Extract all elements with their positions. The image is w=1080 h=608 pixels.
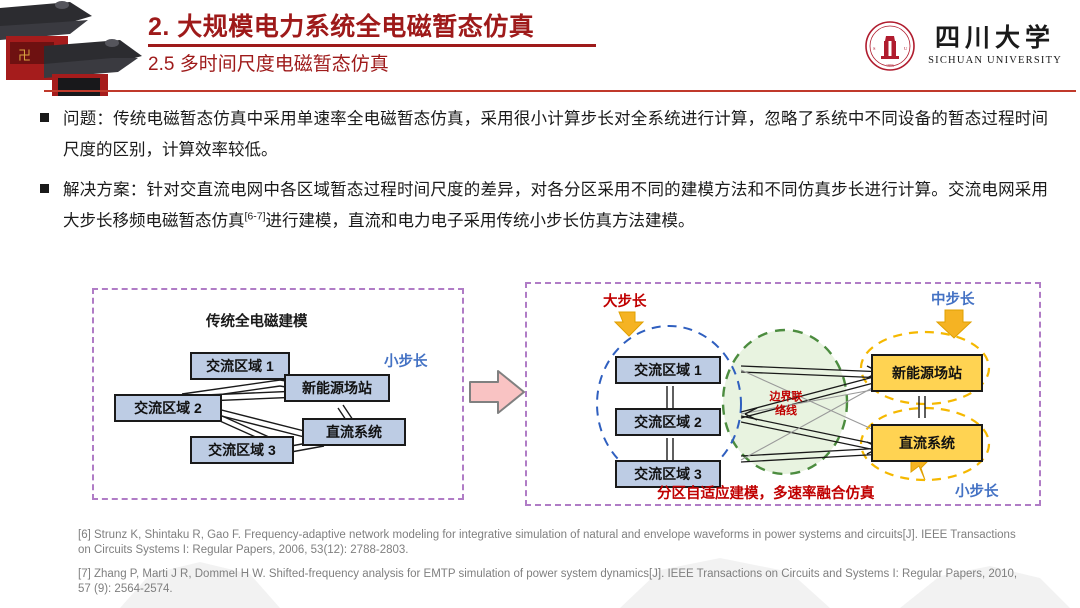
node-ac-zone-2[interactable]: 交流区域 2 [615, 408, 721, 436]
title-block: 2. 大规模电力系统全电磁暂态仿真 2.5 多时间尺度电磁暂态仿真 [148, 12, 808, 78]
sichuan-university-seal-icon: 1896 S U [864, 20, 916, 72]
left-panel-title: 传统全电磁建模 [206, 310, 308, 331]
left-diagram-panel: 传统全电磁建模 小步长 交流区域 1 交流区域 2 交流区域 3 新能源场站 直… [92, 288, 464, 500]
tie-line-label-line2: 络线 [755, 404, 817, 418]
node-dc-system[interactable]: 直流系统 [302, 418, 406, 446]
right-diagram-panel: 大步长 中步长 小步长 [525, 282, 1041, 506]
node-ac-zone-2[interactable]: 交流区域 2 [114, 394, 222, 422]
process-arrow-icon [468, 368, 528, 416]
bullet-solution-text: 解决方案：针对交直流电网中各区域暂态过程时间尺度的差异，对各分区采用不同的建模方… [63, 175, 1048, 237]
node-ac-zone-3[interactable]: 交流区域 3 [190, 436, 294, 464]
step-label-large: 大步长 [603, 290, 647, 311]
bullet-square-icon [40, 113, 49, 122]
page-title: 2. 大规模电力系统全电磁暂态仿真 [148, 12, 808, 42]
bullet-square-icon [40, 184, 49, 193]
title-underline [148, 44, 596, 47]
step-label-small: 小步长 [955, 480, 999, 501]
logo-english-name: SICHUAN UNIVERSITY [928, 54, 1062, 67]
node-dc-system[interactable]: 直流系统 [871, 424, 983, 462]
page-subtitle: 2.5 多时间尺度电磁暂态仿真 [148, 52, 808, 78]
svg-text:U: U [904, 46, 908, 51]
right-panel-caption: 分区自适应建模，多速率融合仿真 [657, 482, 875, 503]
svg-text:卍: 卍 [18, 48, 31, 63]
tie-line-label-line1: 边界联 [755, 390, 817, 404]
pagoda-decoration-image: 卍 [0, 0, 148, 96]
bullet-problem-text: 问题：传统电磁暂态仿真中采用单速率全电磁暂态仿真，采用很小计算步长对全系统进行计… [63, 104, 1048, 166]
tie-line-label: 边界联 络线 [755, 390, 817, 418]
header-divider [44, 90, 1076, 92]
node-renewable-station[interactable]: 新能源场站 [284, 374, 390, 402]
references-list: [6] Strunz K, Shintaku R, Gao F. Frequen… [78, 528, 1028, 606]
diagram-area: 传统全电磁建模 小步长 交流区域 1 交流区域 2 交流区域 3 新能源场站 直… [0, 282, 1080, 514]
solution-text-part-b: 进行建模，直流和电力电子采用传统小步长仿真方法建模。 [266, 212, 695, 230]
bullet-list: 问题：传统电磁暂态仿真中采用单速率全电磁暂态仿真，采用很小计算步长对全系统进行计… [40, 104, 1048, 246]
node-renewable-station[interactable]: 新能源场站 [871, 354, 983, 392]
reference-item-6: [6] Strunz K, Shintaku R, Gao F. Frequen… [78, 528, 1028, 558]
logo-chinese-name: 四川大学 [935, 25, 1055, 53]
svg-text:1896: 1896 [886, 63, 894, 68]
svg-text:S: S [873, 46, 876, 51]
reference-superscript: [6-7] [245, 211, 266, 223]
left-panel-step-label: 小步长 [384, 350, 428, 371]
reference-item-7: [7] Zhang P, Marti J R, Dommel H W. Shif… [78, 567, 1028, 597]
bullet-item-solution: 解决方案：针对交直流电网中各区域暂态过程时间尺度的差异，对各分区采用不同的建模方… [40, 175, 1048, 237]
node-ac-zone-1[interactable]: 交流区域 1 [615, 356, 721, 384]
slide-header: 卍 2. 大规模电力系统全电磁暂态仿真 2.5 多时间尺度电磁暂态仿真 1896… [0, 0, 1080, 92]
node-ac-zone-1[interactable]: 交流区域 1 [190, 352, 290, 380]
university-logo: 1896 S U 四川大学 SICHUAN UNIVERSITY [864, 20, 1062, 72]
step-label-medium: 中步长 [931, 288, 975, 309]
bullet-item-problem: 问题：传统电磁暂态仿真中采用单速率全电磁暂态仿真，采用很小计算步长对全系统进行计… [40, 104, 1048, 166]
